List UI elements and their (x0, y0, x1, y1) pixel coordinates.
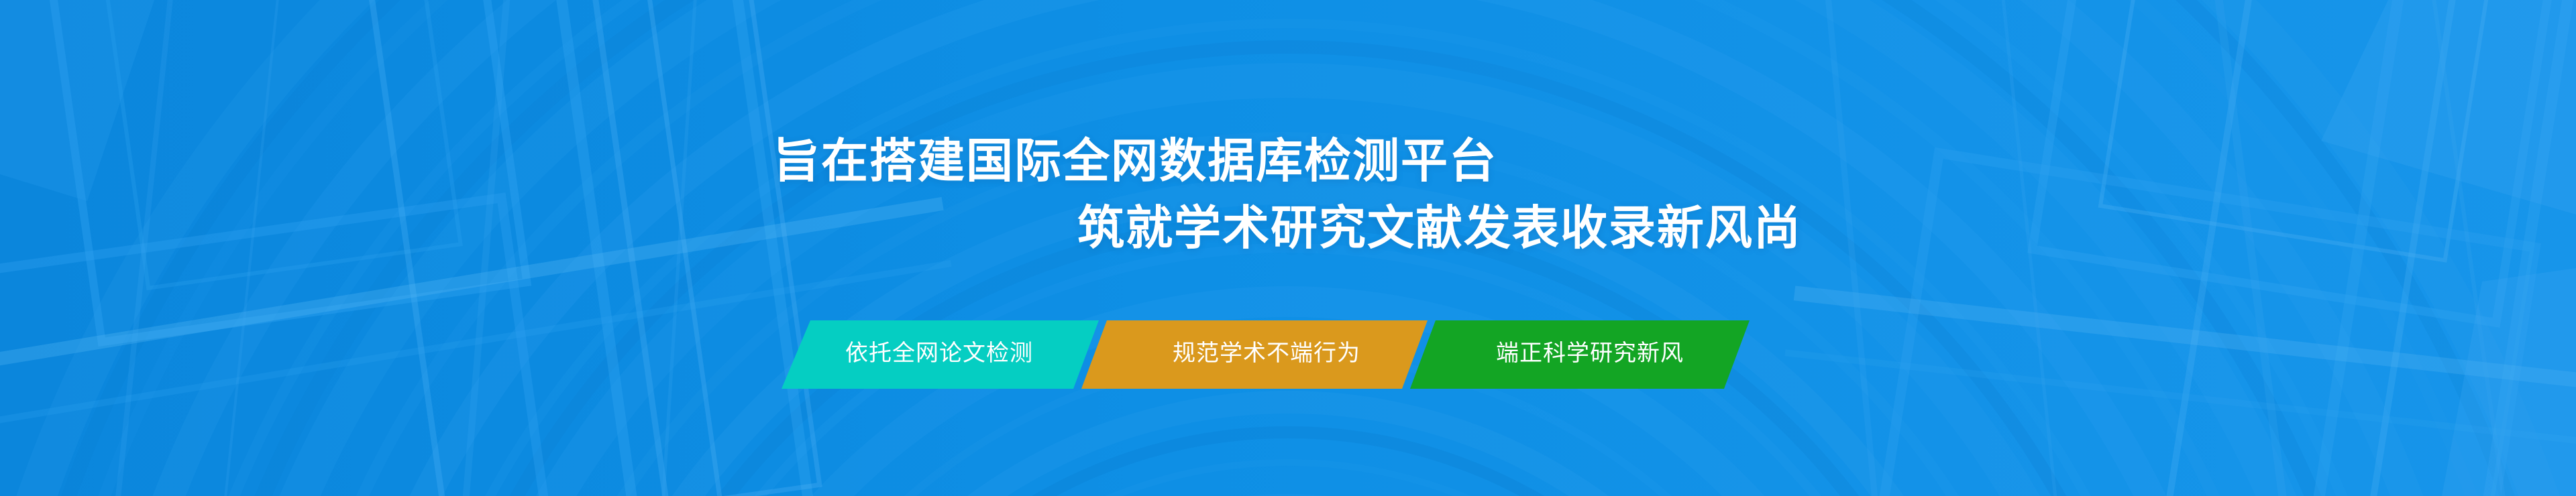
headline-line-1: 旨在搭建国际全网数据库检测平台 (773, 127, 2576, 194)
promo-banner: 旨在搭建国际全网数据库检测平台 筑就学术研究文献发表收录新风尚 依托全网论文检测… (0, 0, 2576, 496)
feature-tag-0[interactable]: 依托全网论文检测 (785, 319, 1093, 387)
feature-tag-strip: 依托全网论文检测 规范学术不端行为 端正科学研究新风 (758, 319, 1751, 391)
feature-tag-1[interactable]: 规范学术不端行为 (1112, 319, 1421, 387)
headline-block: 旨在搭建国际全网数据库检测平台 筑就学术研究文献发表收录新风尚 (0, 127, 2576, 261)
feature-tag-2[interactable]: 端正科学研究新风 (1436, 319, 1744, 387)
headline-line-2: 筑就学术研究文献发表收录新风尚 (1077, 194, 2576, 261)
